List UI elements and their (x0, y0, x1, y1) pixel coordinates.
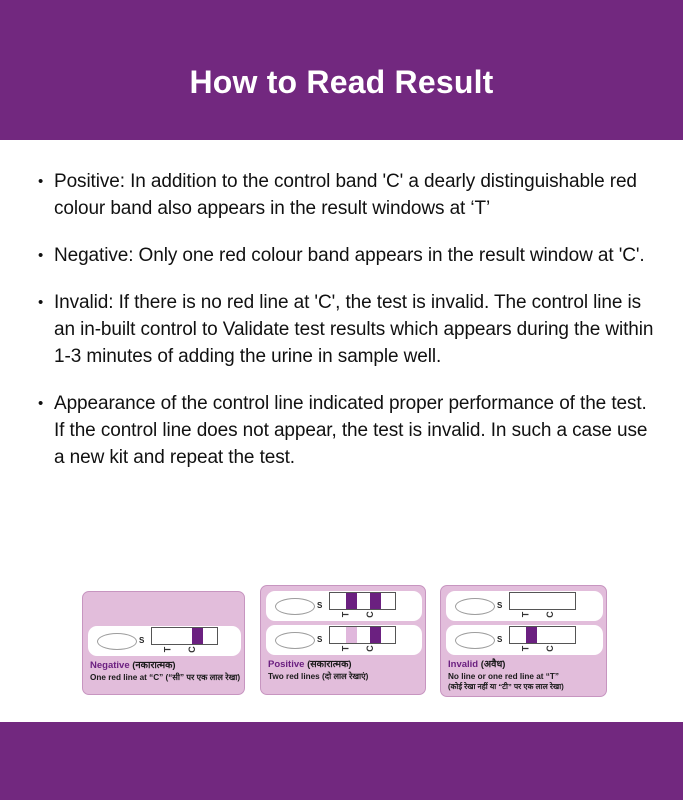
panel-positive: S T C S (260, 585, 426, 695)
panel-positive-sub: Two red lines (दो लाल रेखाएं) (268, 671, 420, 682)
window-marks: T C (509, 610, 576, 621)
t-mark-label: T (163, 646, 174, 652)
c-mark-label: C (365, 645, 376, 652)
t-mark-label: T (341, 645, 352, 651)
c-mark-label: C (365, 611, 376, 618)
test-band-faint (346, 627, 357, 643)
panel-negative-sub-en: One red line at “C” (90, 673, 163, 682)
t-mark-label: T (341, 611, 352, 617)
instruction-text-positive: Positive: In addition to the control ban… (54, 168, 658, 222)
control-band (370, 593, 381, 609)
result-window (151, 627, 218, 645)
instruction-text-control-line: Appearance of the control line indicated… (54, 390, 658, 471)
panel-negative-labels: Negative (नकारात्मक) One red line at “C”… (90, 660, 239, 683)
sample-well-icon (275, 598, 315, 615)
result-window (509, 626, 576, 644)
test-band (346, 593, 357, 609)
panel-negative-title-hi: (नकारात्मक) (132, 660, 175, 671)
t-mark-label: T (521, 611, 532, 617)
page-title: How to Read Result (189, 64, 493, 101)
sample-well-label: S (139, 637, 144, 645)
result-window (329, 626, 396, 644)
panel-invalid-sub-hi: (कोई रेखा नहीं या “टी” पर एक लाल रेखा) (448, 682, 601, 692)
instruction-text-invalid: Invalid: If there is no red line at 'C',… (54, 289, 658, 370)
panel-positive-labels: Positive (सकारात्मक) Two red lines (दो ल… (268, 659, 420, 682)
panel-invalid-sub: No line or one red line at “T” (448, 671, 601, 682)
window-marks: T C (329, 644, 396, 655)
result-window-wrap: T C (329, 626, 396, 655)
test-cassette-invalid-1: S T C (446, 591, 603, 621)
list-item: • Positive: In addition to the control b… (38, 168, 658, 222)
c-mark-label: C (545, 611, 556, 618)
panel-positive-sub-hi: (दो लाल रेखाएं) (322, 672, 368, 681)
sample-well-icon (275, 632, 315, 649)
result-diagram-panels: S T C Negative (नकारात्मक) (82, 585, 607, 697)
test-cassette-positive-2: S T C (266, 625, 422, 655)
result-window-wrap: T C (509, 592, 576, 621)
window-marks: T C (329, 610, 396, 621)
bullet-marker-icon: • (38, 168, 54, 195)
sample-well-icon (455, 598, 495, 615)
instructions-list: • Positive: In addition to the control b… (38, 168, 658, 491)
result-window-wrap: T C (151, 627, 218, 656)
result-window (509, 592, 576, 610)
test-cassette-positive-1: S T C (266, 591, 422, 621)
header-band: How to Read Result (0, 0, 683, 140)
window-marks: T C (509, 644, 576, 655)
panel-negative-sub: One red line at “C” (“सी” पर एक लाल रेखा… (90, 672, 239, 683)
list-item: • Invalid: If there is no red line at 'C… (38, 289, 658, 370)
sample-well-icon (455, 632, 495, 649)
panel-positive-title-en: Positive (268, 659, 304, 670)
bullet-marker-icon: • (38, 289, 54, 316)
list-item: • Appearance of the control line indicat… (38, 390, 658, 471)
panel-positive-title: Positive (सकारात्मक) (268, 659, 420, 671)
footer-band (0, 722, 683, 800)
test-cassette-negative-1: S T C (88, 626, 241, 656)
test-band (526, 627, 537, 643)
bullet-marker-icon: • (38, 390, 54, 417)
sample-well-label: S (317, 602, 322, 610)
c-mark-label: C (545, 645, 556, 652)
content-area: • Positive: In addition to the control b… (0, 140, 683, 722)
t-mark-label: T (521, 645, 532, 651)
panel-positive-title-hi: (सकारात्मक) (307, 659, 352, 670)
list-item: • Negative: Only one red colour band app… (38, 242, 658, 269)
test-cassette-invalid-2: S T C (446, 625, 603, 655)
control-band (370, 627, 381, 643)
result-window-wrap: T C (329, 592, 396, 621)
instruction-text-negative: Negative: Only one red colour band appea… (54, 242, 658, 269)
control-band (192, 628, 203, 644)
panel-invalid-title-en: Invalid (448, 659, 478, 670)
panel-negative-sub-hi: (“सी” पर एक लाल रेखा) (166, 673, 241, 682)
panel-invalid-title: Invalid (अवैध) (448, 659, 601, 671)
panel-invalid: S T C S (440, 585, 607, 697)
sample-well-label: S (317, 636, 322, 644)
sample-well-icon (97, 633, 137, 650)
result-window-wrap: T C (509, 626, 576, 655)
bullet-marker-icon: • (38, 242, 54, 269)
window-marks: T C (151, 645, 218, 656)
panel-negative-title: Negative (नकारात्मक) (90, 660, 239, 672)
panel-invalid-title-hi: (अवैध) (481, 659, 506, 670)
panel-negative: S T C Negative (नकारात्मक) (82, 591, 245, 695)
panel-invalid-labels: Invalid (अवैध) No line or one red line a… (448, 659, 601, 692)
how-to-read-result-page: How to Read Result • Positive: In additi… (0, 0, 683, 800)
panel-negative-title-en: Negative (90, 660, 130, 671)
c-mark-label: C (187, 646, 198, 653)
sample-well-label: S (497, 636, 502, 644)
panel-positive-sub-en: Two red lines (268, 672, 320, 681)
sample-well-label: S (497, 602, 502, 610)
result-window (329, 592, 396, 610)
